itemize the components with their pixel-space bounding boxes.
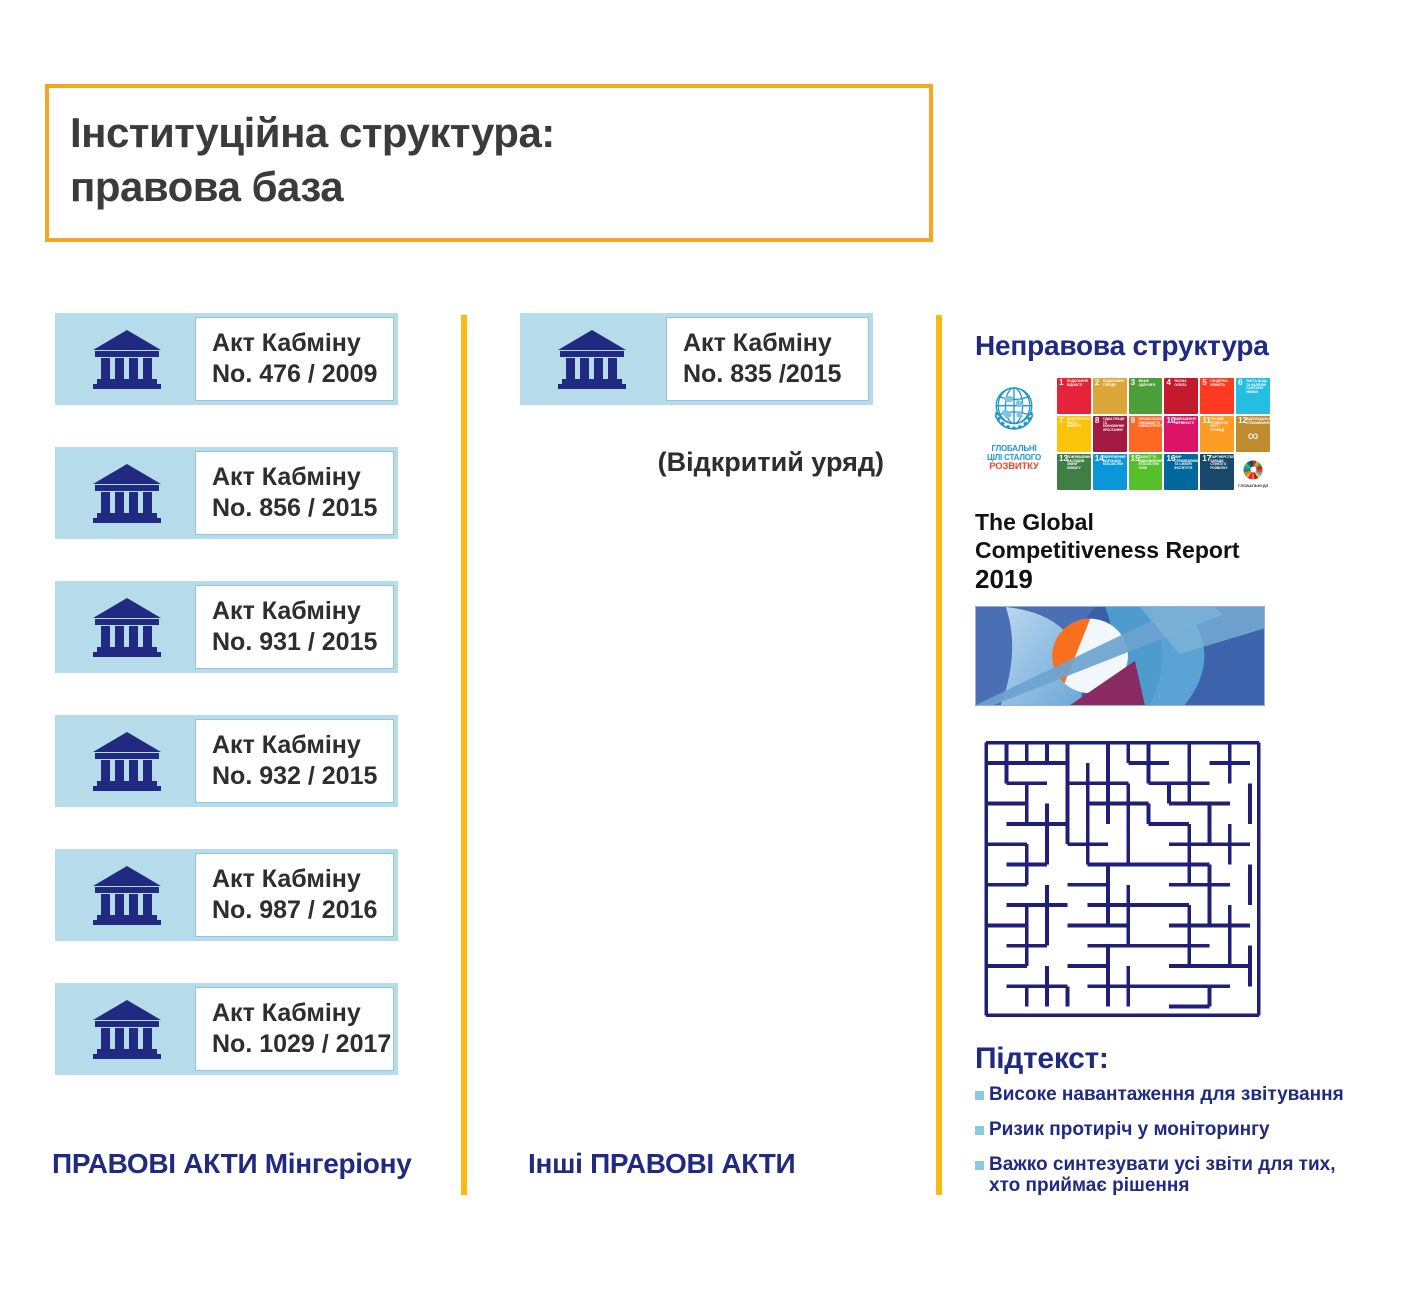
act-card[interactable]: Акт Кабміну No. 476 / 2009 — [55, 313, 398, 405]
sdg-tile-glyph: ∞ — [1248, 429, 1259, 444]
non-legal-structure-column: Неправова структура — [975, 330, 1375, 1210]
act-line-2: No. 835 /2015 — [683, 359, 868, 390]
act-card[interactable]: Акт Кабміну No. 1029 / 2017 — [55, 983, 398, 1075]
un-logo-block: ГЛОБАЛЬНІ ЦІЛІ СТАЛОГО РОЗВИТКУ — [975, 376, 1053, 471]
sdg-tile-2: 2ПОДОЛАННЯ ГОЛОДУ — [1093, 378, 1127, 414]
act-card[interactable]: Акт Кабміну No. 987 / 2016 — [55, 849, 398, 941]
act-line-1: Акт Кабміну — [212, 328, 393, 359]
sdg-tile-number: 5 — [1202, 379, 1206, 387]
act-card[interactable]: Акт Кабміну No. 932 / 2015 — [55, 715, 398, 807]
act-line-2: No. 1029 / 2017 — [212, 1029, 393, 1060]
sdg-tile-caption: ЯКІСНА ОСВІТА — [1174, 380, 1197, 387]
bank-icon — [67, 455, 187, 531]
sdg-tile-number: 7 — [1059, 417, 1063, 425]
sdg-tile-11: 11СТАЛИЙ РОЗВИТОК МІСТ І ГРОМАД — [1200, 416, 1234, 452]
sdg-tile-13: 13ПОМ'ЯКШЕННЯ НАСЛІДКІВ ЗМІНИ КЛІМАТУ — [1057, 454, 1091, 490]
sdg-tile-1: 1ПОДОЛАННЯ БІДНОСТІ — [1057, 378, 1091, 414]
subtext-bullet: Важко синтезувати усі звіти для тих, хто… — [975, 1154, 1375, 1196]
open-government-note: (Відкритий уряд) — [520, 447, 890, 478]
sdg-tile-caption: ЧИСТА ВОДА ТА НАЛЕЖНІ САНІТАРНІ УМОВИ — [1246, 380, 1269, 394]
act-label-box: Акт Кабміну No. 476 / 2009 — [195, 317, 394, 401]
act-label-box: Акт Кабміну No. 987 / 2016 — [195, 853, 394, 937]
act-line-2: No. 856 / 2015 — [212, 493, 393, 524]
sdg-tile-5: 5ГЕНДЕРНА РІВНІСТЬ — [1200, 378, 1234, 414]
bullet-marker-icon — [975, 1091, 984, 1100]
act-line-1: Акт Кабміну — [212, 864, 393, 895]
report-cover-graphic — [975, 606, 1265, 706]
un-caption-line-3: РОЗВИТКУ — [987, 462, 1041, 471]
sdg-tile-caption: ЗБЕРЕЖЕННЯ МОРСЬКИХ ЕКОСИСТЕМ — [1103, 456, 1126, 467]
sdg-tile-caption: МИР СПРАВЕДЛИВІСТЬ ТА СИЛЬНІ ІНСТИТУТИ — [1174, 456, 1197, 470]
bank-icon — [67, 857, 187, 933]
act-label-box: Акт Кабміну No. 856 / 2015 — [195, 451, 394, 535]
act-line-1: Акт Кабміну — [212, 462, 393, 493]
bank-icon — [532, 321, 652, 397]
bank-icon — [67, 991, 187, 1067]
sdg-tile-number: 3 — [1131, 379, 1135, 387]
bank-icon — [67, 321, 187, 397]
column-divider-left — [461, 315, 467, 1195]
footer-label-ministry-acts: ПРАВОВІ АКТИ Мінгеріону — [52, 1148, 411, 1180]
act-card[interactable]: Акт Кабміну No. 835 /2015 — [520, 313, 873, 405]
un-emblem-icon — [981, 376, 1047, 442]
gcr-year: 2019 — [975, 564, 1375, 594]
act-line-1: Акт Кабміну — [683, 328, 868, 359]
footer-label-other-acts: Інші ПРАВОВІ АКТИ — [528, 1148, 795, 1180]
sdg-goal-grid: 1ПОДОЛАННЯ БІДНОСТІ2ПОДОЛАННЯ ГОЛОДУ3МІЦ… — [1057, 378, 1270, 490]
act-line-1: Акт Кабміну — [212, 596, 393, 627]
subtext-title: Підтекст: — [975, 1042, 1375, 1076]
act-line-1: Акт Кабміну — [212, 998, 393, 1029]
sdg-tile-number: 4 — [1166, 379, 1170, 387]
act-card[interactable]: Акт Кабміну No. 856 / 2015 — [55, 447, 398, 539]
sdg-wheel-icon — [1244, 460, 1263, 479]
sdg-tile-caption: ПОМ'ЯКШЕННЯ НАСЛІДКІВ ЗМІНИ КЛІМАТУ — [1067, 456, 1090, 470]
legal-acts-ministry-column: Акт Кабміну No. 476 / 2009 Акт Кабміну — [55, 313, 415, 1117]
page-title: Інституційна структура: правова база — [70, 106, 890, 214]
subtext-bullet-list: Високе навантаження для звітуванняРизик … — [975, 1084, 1375, 1196]
subtext-bullet: Ризик протиріч у моніторингу — [975, 1119, 1375, 1140]
sdg-tile-number: 2 — [1095, 379, 1099, 387]
maze-graphic — [975, 734, 1270, 1024]
act-line-2: No. 932 / 2015 — [212, 761, 393, 792]
bullet-marker-icon — [975, 1161, 984, 1170]
sdg-tile-6: 6ЧИСТА ВОДА ТА НАЛЕЖНІ САНІТАРНІ УМОВИ — [1236, 378, 1270, 414]
sdg-tile-8: 8ГІДНА ПРАЦЯ ТА ЕКОНОМІЧНЕ ЗРОСТАННЯ — [1093, 416, 1127, 452]
sdg-tile-caption: ГІДНА ПРАЦЯ ТА ЕКОНОМІЧНЕ ЗРОСТАННЯ — [1103, 418, 1126, 432]
gcr-line-2: Competitiveness Report — [975, 536, 1375, 564]
sdg-tile-caption: ПРОМИСЛОВІСТЬ ІННОВАЦІЇ ТА ІНФРАСТРУКТУР… — [1139, 418, 1162, 429]
sdg-tile-number: 8 — [1095, 417, 1099, 425]
sdg-tile-caption: ДОСТУПНА ТА ЧИСТА ЕНЕРГІЯ — [1067, 418, 1090, 429]
sdg-tile-caption: СТАЛИЙ РОЗВИТОК МІСТ І ГРОМАД — [1210, 418, 1233, 432]
global-competitiveness-report: The Global Competitiveness Report 2019 — [975, 508, 1375, 594]
sdg-tile-caption: ЗМЕНШЕННЯ НЕРІВНОСТІ — [1174, 418, 1197, 425]
sdg-tile-14: 14ЗБЕРЕЖЕННЯ МОРСЬКИХ ЕКОСИСТЕМ — [1093, 454, 1127, 490]
un-caption-line-1: ГЛОБАЛЬНІ — [987, 444, 1041, 453]
sdg-tile-4: 4ЯКІСНА ОСВІТА — [1164, 378, 1198, 414]
sdg-tile-caption: ЗАХИСТ ТА ВІДНОВЛЕННЯ ЕКОСИСТЕМ СУШІ — [1139, 456, 1162, 470]
un-caption: ГЛОБАЛЬНІ ЦІЛІ СТАЛОГО РОЗВИТКУ — [987, 444, 1041, 471]
sdg-tile-caption: ВІДПОВІДАЛЬНЕ СПОЖИВАННЯ — [1246, 418, 1269, 425]
sdg-tile-number: 9 — [1131, 417, 1135, 425]
column-divider-right — [936, 315, 942, 1195]
sdg-wheel-tile: ГЛОБАЛЬНІ ДІЇ — [1236, 454, 1270, 490]
sdg-tile-number: 1 — [1059, 379, 1063, 387]
sdg-tile-caption: ПОДОЛАННЯ БІДНОСТІ — [1067, 380, 1090, 387]
bank-icon — [67, 589, 187, 665]
sdg-tile-9: 9ПРОМИСЛОВІСТЬ ІННОВАЦІЇ ТА ІНФРАСТРУКТУ… — [1129, 416, 1163, 452]
bullet-marker-icon — [975, 1126, 984, 1135]
sdg-tile-number: 6 — [1238, 379, 1242, 387]
sdg-tile-7: 7ДОСТУПНА ТА ЧИСТА ЕНЕРГІЯ — [1057, 416, 1091, 452]
sdg-tile-10: 10ЗМЕНШЕННЯ НЕРІВНОСТІ — [1164, 416, 1198, 452]
bank-icon — [67, 723, 187, 799]
sdg-banner: ГЛОБАЛЬНІ ЦІЛІ СТАЛОГО РОЗВИТКУ 1ПОДОЛАН… — [975, 376, 1270, 494]
act-label-box: Акт Кабміну No. 932 / 2015 — [195, 719, 394, 803]
subtext-bullet-text: Важко синтезувати усі звіти для тих, хто… — [989, 1154, 1336, 1196]
subtext-bullet-text: Ризик протиріч у моніторингу — [989, 1119, 1270, 1140]
act-card[interactable]: Акт Кабміну No. 931 / 2015 — [55, 581, 398, 673]
sdg-tile-15: 15ЗАХИСТ ТА ВІДНОВЛЕННЯ ЕКОСИСТЕМ СУШІ — [1129, 454, 1163, 490]
subtext-bullet: Високе навантаження для звітування — [975, 1084, 1375, 1105]
sdg-tile-caption: МІЦНЕ ЗДОРОВ'Я — [1139, 380, 1162, 387]
sdg-wheel-label: ГЛОБАЛЬНІ ДІЇ — [1236, 484, 1270, 488]
subtext-bullet-text: Високе навантаження для звітування — [989, 1084, 1344, 1105]
sdg-tile-3: 3МІЦНЕ ЗДОРОВ'Я — [1129, 378, 1163, 414]
act-line-2: No. 476 / 2009 — [212, 359, 393, 390]
act-label-box: Акт Кабміну No. 1029 / 2017 — [195, 987, 394, 1071]
other-legal-acts-column: Акт Кабміну No. 835 /2015 (Відкритий уря… — [520, 313, 890, 478]
act-line-2: No. 987 / 2016 — [212, 895, 393, 926]
sdg-tile-caption: ПОДОЛАННЯ ГОЛОДУ — [1103, 380, 1126, 387]
sdg-tile-17: 17ПАРТНЕРСТВО ЗАРАДИ СТІЙКОГО РОЗВИТКУ — [1200, 454, 1234, 490]
act-label-box: Акт Кабміну No. 835 /2015 — [666, 317, 869, 401]
sdg-tile-16: 16МИР СПРАВЕДЛИВІСТЬ ТА СИЛЬНІ ІНСТИТУТИ — [1164, 454, 1198, 490]
act-line-2: No. 931 / 2015 — [212, 627, 393, 658]
gcr-line-1: The Global — [975, 508, 1375, 536]
non-legal-structure-title: Неправова структура — [975, 330, 1375, 362]
act-line-1: Акт Кабміну — [212, 730, 393, 761]
slide-canvas: Інституційна структура: правова база Акт… — [0, 0, 1410, 1299]
sdg-tile-caption: ГЕНДЕРНА РІВНІСТЬ — [1210, 380, 1233, 387]
sdg-tile-caption: ПАРТНЕРСТВО ЗАРАДИ СТІЙКОГО РОЗВИТКУ — [1210, 456, 1233, 470]
act-label-box: Акт Кабміну No. 931 / 2015 — [195, 585, 394, 669]
sdg-tile-12: 12ВІДПОВІДАЛЬНЕ СПОЖИВАННЯ∞ — [1236, 416, 1270, 452]
